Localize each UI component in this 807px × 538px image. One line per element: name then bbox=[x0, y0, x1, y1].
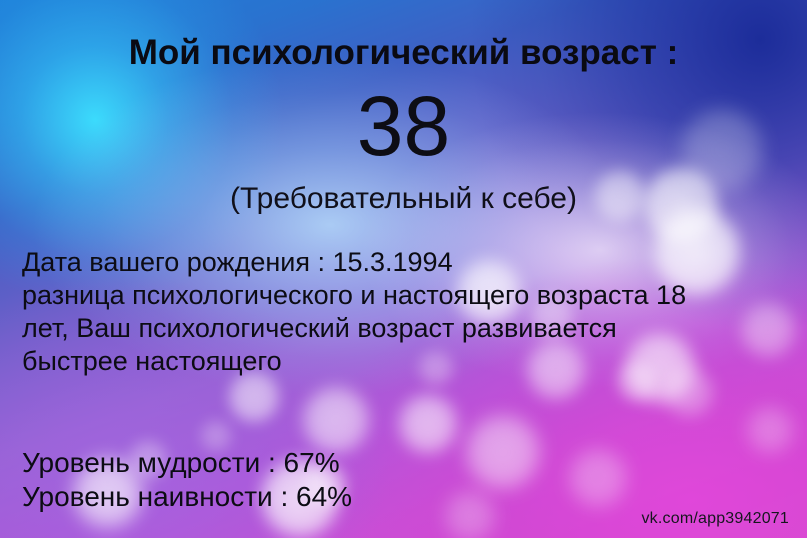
age-difference-line: разница психологического и настоящего во… bbox=[22, 279, 686, 312]
development-line-one: лет, Ваш психологический возраст развива… bbox=[22, 312, 686, 345]
psychological-age-result-card: Мой психологический возраст : 38 (Требов… bbox=[0, 0, 807, 538]
psychological-age-value: 38 bbox=[0, 84, 807, 168]
vk-app-watermark: vk.com/app3942071 bbox=[641, 510, 789, 528]
wisdom-level-line: Уровень мудрости : 67% bbox=[22, 446, 352, 480]
levels-block: Уровень мудрости : 67% Уровень наивности… bbox=[22, 446, 352, 514]
description-block: Дата вашего рождения : 15.3.1994 разница… bbox=[22, 246, 686, 378]
development-line-two: быстрее настоящего bbox=[22, 345, 686, 378]
text-overlay: Мой психологический возраст : 38 (Требов… bbox=[0, 0, 807, 538]
personality-trait-subtitle: (Требовательный к себе) bbox=[0, 182, 807, 216]
birth-date-line: Дата вашего рождения : 15.3.1994 bbox=[22, 246, 686, 279]
naivety-level-line: Уровень наивности : 64% bbox=[22, 480, 352, 514]
page-title: Мой психологический возраст : bbox=[0, 33, 807, 73]
